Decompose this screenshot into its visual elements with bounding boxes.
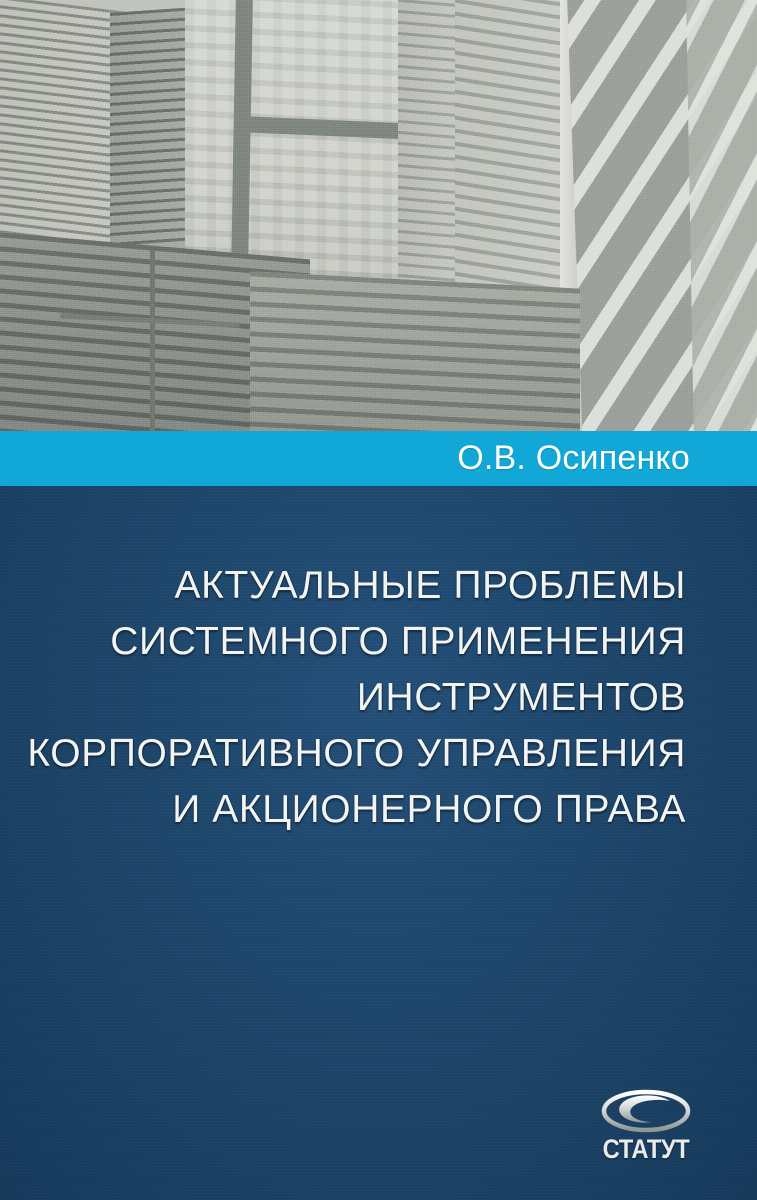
title-line-1: АКТУАЛЬНЫЕ ПРОБЛЕМЫ [0, 558, 686, 614]
book-title: АКТУАЛЬНЫЕ ПРОБЛЕМЫ СИСТЕМНОГО ПРИМЕНЕНИ… [0, 558, 757, 838]
photo-grain-overlay [0, 0, 757, 431]
book-cover: О.В. Осипенко АКТУАЛЬНЫЕ ПРОБЛЕМЫ СИСТЕМ… [0, 0, 757, 1200]
title-line-4: КОРПОРАТИВНОГО УПРАВЛЕНИЯ [0, 726, 686, 782]
author-name: О.В. Осипенко [457, 439, 757, 478]
title-line-5: И АКЦИОНЕРНОГО ПРАВА [0, 782, 686, 838]
cover-photograph [0, 0, 757, 431]
publisher-name: СТАТУТ [602, 1135, 690, 1163]
title-line-3: ИНСТРУМЕНТОВ [0, 670, 686, 726]
title-line-2: СИСТЕМНОГО ПРИМЕНЕНИЯ [0, 614, 686, 670]
author-band: О.В. Осипенко [0, 431, 757, 486]
statut-ellipse-c-icon [600, 1088, 692, 1134]
publisher-logo: СТАТУТ [596, 1088, 696, 1162]
